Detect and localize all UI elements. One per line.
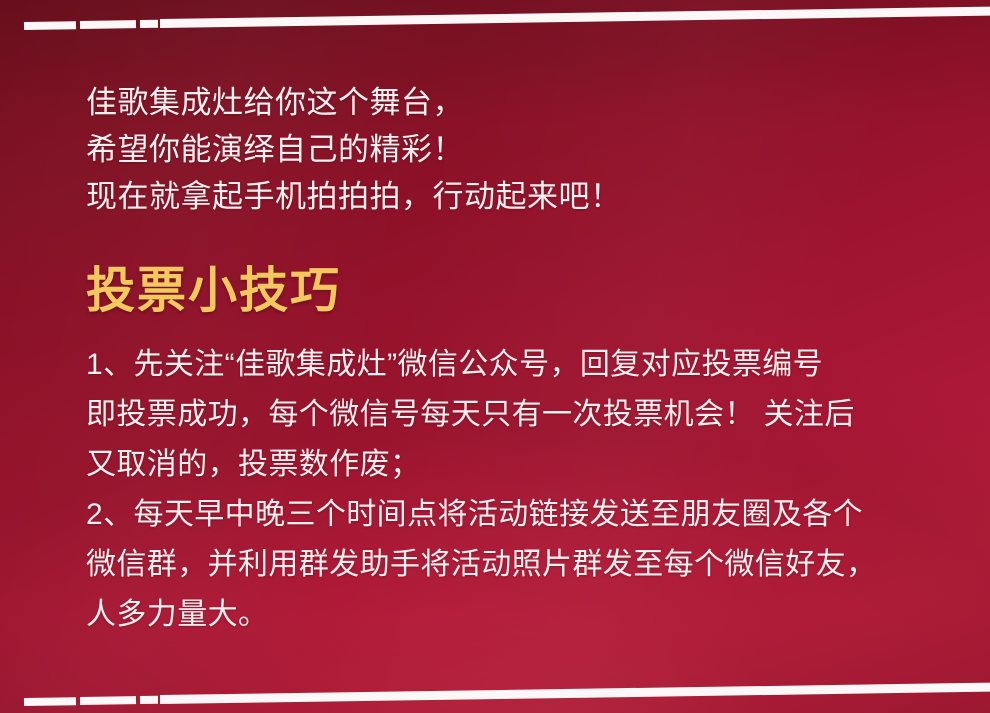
intro-line: 现在就拿起手机拍拍拍，行动起来吧！ xyxy=(86,173,906,220)
tip-text-line: 即投票成功，每个微信号每天只有一次投票机会！ 关注后 xyxy=(86,390,912,440)
intro-line: 佳歌集成灶给你这个舞台， xyxy=(86,79,906,126)
poster-content: 佳歌集成灶给你这个舞台， 希望你能演绎自己的精彩！ 现在就拿起手机拍拍拍，行动起… xyxy=(86,0,916,713)
tip-text-line: 2、每天早中晚三个时间点将活动链接发送至朋友圈及各个 xyxy=(86,490,912,540)
tip-text-line: 又取消的，投票数作废； xyxy=(86,440,912,490)
intro-line: 希望你能演绎自己的精彩！ xyxy=(86,126,906,173)
section-heading: 投票小技巧 xyxy=(86,262,341,320)
list-item: 2、每天早中晚三个时间点将活动链接发送至朋友圈及各个 微信群，并利用群发助手将活… xyxy=(86,490,912,640)
rule-dash-1 xyxy=(24,697,76,706)
tip-text-line: 1、先关注“佳歌集成灶”微信公众号，回复对应投票编号 xyxy=(86,340,912,390)
tip-text-line: 人多力量大。 xyxy=(86,590,912,640)
promo-poster: 佳歌集成灶给你这个舞台， 希望你能演绎自己的精彩！ 现在就拿起手机拍拍拍，行动起… xyxy=(0,0,990,713)
rule-dash-1 xyxy=(24,21,76,30)
tip-text-line: 微信群，并利用群发助手将活动照片群发至每个微信好友， xyxy=(86,540,912,590)
intro-block: 佳歌集成灶给你这个舞台， 希望你能演绎自己的精彩！ 现在就拿起手机拍拍拍，行动起… xyxy=(86,79,906,220)
list-item: 1、先关注“佳歌集成灶”微信公众号，回复对应投票编号 即投票成功，每个微信号每天… xyxy=(86,340,912,490)
tips-list: 1、先关注“佳歌集成灶”微信公众号，回复对应投票编号 即投票成功，每个微信号每天… xyxy=(86,340,912,640)
